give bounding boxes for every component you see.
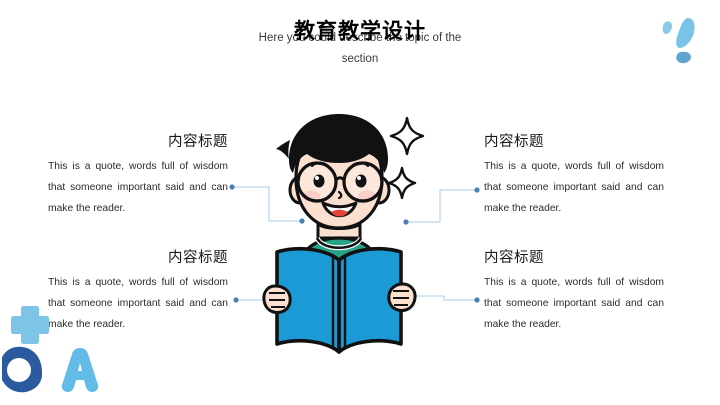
slide-header: 教育教学设计 Here you could describe the topic…: [180, 20, 540, 70]
blue-teardrop-decoration: [648, 8, 712, 64]
content-block-bottom-right: 内容标题 This is a quote, words full of wisd…: [484, 248, 664, 335]
open-book: [277, 249, 401, 352]
sparkle-icon: [391, 118, 423, 154]
content-block-heading: 内容标题: [48, 248, 228, 268]
sparkle-icon: [389, 168, 415, 198]
letter-g-decoration: [2, 347, 42, 393]
letter-a-decoration: [62, 348, 98, 392]
content-block-top-right: 内容标题 This is a quote, words full of wisd…: [484, 132, 664, 219]
slide-root: 教育教学设计 Here you could describe the topic…: [0, 0, 720, 405]
content-block-heading: 内容标题: [484, 132, 664, 152]
content-block-body: This is a quote, words full of wisdom th…: [48, 156, 228, 219]
content-block-body: This is a quote, words full of wisdom th…: [484, 272, 664, 335]
bottom-left-decoration: [2, 300, 118, 400]
boy-reading-book-illustration: [255, 104, 470, 379]
blue-plus-icon: [11, 306, 49, 344]
content-block-top-left: 内容标题 This is a quote, words full of wisd…: [48, 132, 228, 219]
content-block-heading: 内容标题: [484, 248, 664, 268]
content-block-heading: 内容标题: [48, 132, 228, 152]
page-title: 教育教学设计: [180, 20, 540, 44]
content-block-body: This is a quote, words full of wisdom th…: [484, 156, 664, 219]
